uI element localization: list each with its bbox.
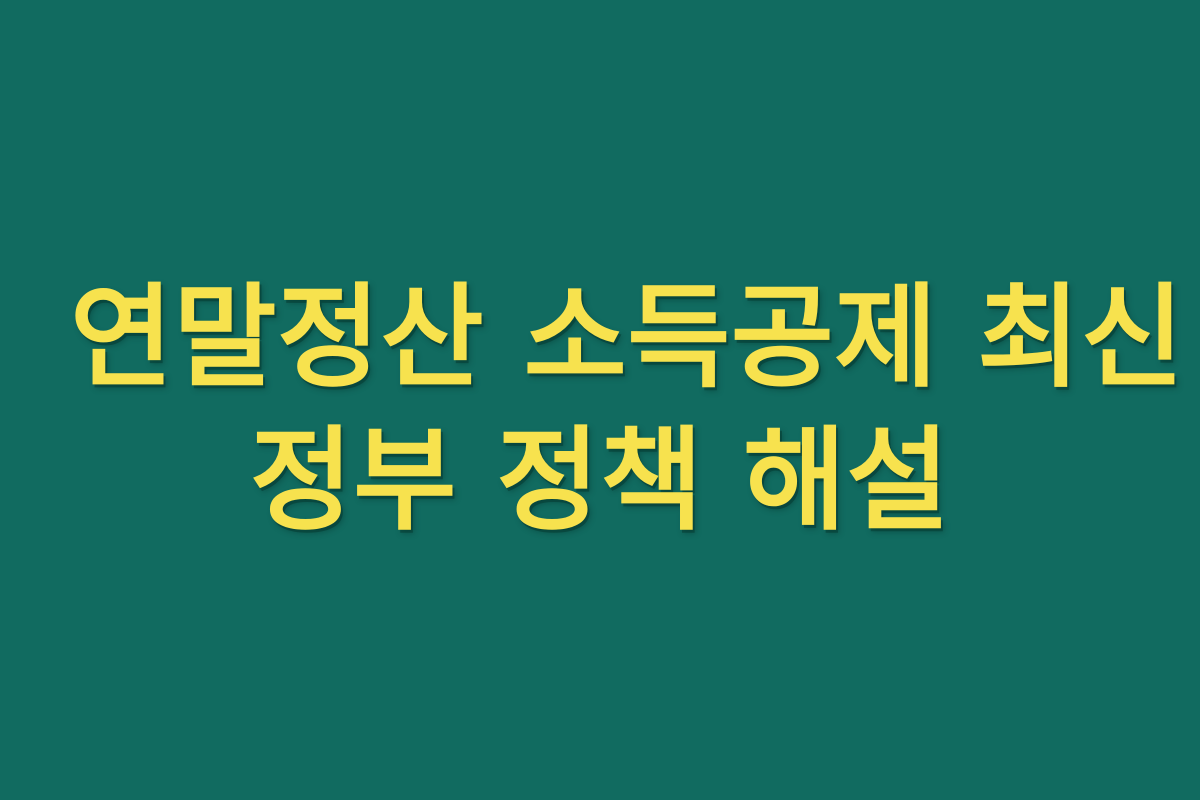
title-line-2: 정부 정책 해설 <box>70 410 1130 553</box>
page-title: 연말정산 소득공제 최신 정부 정책 해설 <box>50 267 1150 553</box>
title-line-1: 연말정산 소득공제 최신 <box>70 267 1130 410</box>
poster-canvas: 연말정산 소득공제 최신 정부 정책 해설 <box>0 0 1200 800</box>
